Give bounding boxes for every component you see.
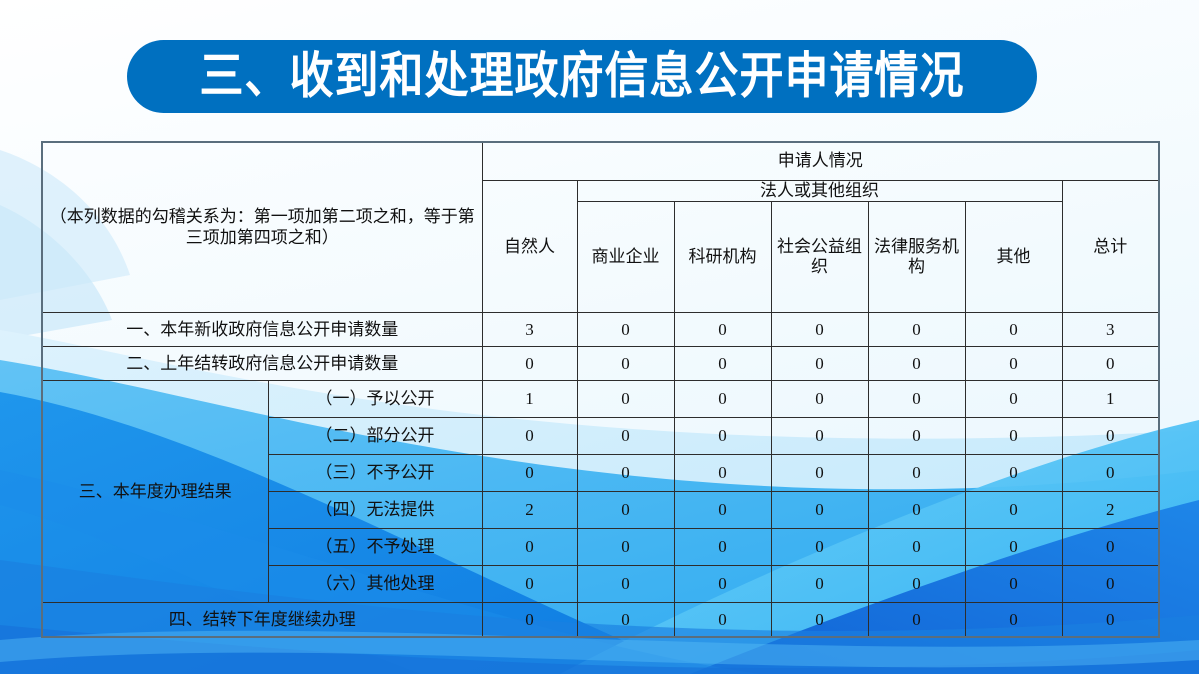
cell-value: 0 [965,529,1062,566]
cell-value: 0 [868,492,965,529]
cell-value: 0 [965,492,1062,529]
cell-value: 0 [674,313,771,347]
cell-value: 0 [674,455,771,492]
row-label-partially-disclosed: （二）部分公开 [268,418,482,455]
row-label-not-processed: （五）不予处理 [268,529,482,566]
column-header-commercial-enterprise: 商业企业 [577,202,674,313]
column-header-public-welfare-org: 社会公益组织 [771,202,868,313]
cell-value: 3 [482,313,577,347]
cell-value: 0 [1062,347,1159,381]
cell-value: 0 [771,455,868,492]
title-banner: 三、收到和处理政府信息公开申请情况 [127,40,1037,113]
cell-value: 0 [577,418,674,455]
column-header-other: 其他 [965,202,1062,313]
slide-canvas: 三、收到和处理政府信息公开申请情况 （本列数据的勾稽关系为：第一项加第二项之和，… [0,0,1199,674]
cell-value: 0 [1062,455,1159,492]
cell-value: 0 [577,492,674,529]
cell-value: 0 [1062,566,1159,603]
cell-value: 0 [965,381,1062,418]
table-head: （本列数据的勾稽关系为：第一项加第二项之和，等于第三项加第四项之和） 申请人情况… [42,142,1159,313]
cell-value: 0 [674,566,771,603]
cell-value: 0 [674,529,771,566]
cell-value: 0 [577,529,674,566]
cell-value: 0 [868,566,965,603]
cell-value: 0 [482,455,577,492]
cell-value: 0 [965,347,1062,381]
row-label-not-disclosed: （三）不予公开 [268,455,482,492]
column-header-legal-service-org: 法律服务机构 [868,202,965,313]
cell-value: 0 [771,418,868,455]
cell-value: 0 [771,492,868,529]
cell-value: 0 [577,381,674,418]
row-label-carried-over-applications: 二、上年结转政府信息公开申请数量 [42,347,482,381]
column-header-total: 总计 [1062,181,1159,313]
header-row-group: （本列数据的勾稽关系为：第一项加第二项之和，等于第三项加第四项之和） 申请人情况 [42,142,1159,181]
cell-value: 0 [771,529,868,566]
stub-header-cell: （本列数据的勾稽关系为：第一项加第二项之和，等于第三项加第四项之和） [42,142,482,313]
cell-value: 0 [868,381,965,418]
column-header-natural-person: 自然人 [482,181,577,313]
row-label-disclosed: （一）予以公开 [268,381,482,418]
cell-value: 0 [577,313,674,347]
table-row: 一、本年新收政府信息公开申请数量 3 0 0 0 0 0 3 [42,313,1159,347]
table-row: 二、上年结转政府信息公开申请数量 0 0 0 0 0 0 0 [42,347,1159,381]
page-title: 三、收到和处理政府信息公开申请情况 [200,52,965,101]
cell-value: 0 [482,566,577,603]
cell-value: 1 [482,381,577,418]
cell-value: 0 [868,603,965,638]
cell-value: 0 [771,313,868,347]
cell-value: 0 [965,418,1062,455]
cell-value: 0 [482,418,577,455]
cell-value: 2 [482,492,577,529]
cell-value: 0 [1062,418,1159,455]
cell-value: 0 [577,347,674,381]
table-row: 四、结转下年度继续办理 0 0 0 0 0 0 0 [42,603,1159,638]
government-info-disclosure-table: （本列数据的勾稽关系为：第一项加第二项之和，等于第三项加第四项之和） 申请人情况… [41,141,1160,638]
cell-value: 1 [1062,381,1159,418]
cell-value: 0 [771,381,868,418]
cell-value: 0 [868,529,965,566]
cell-value: 0 [674,492,771,529]
cell-value: 0 [771,347,868,381]
cell-value: 0 [868,347,965,381]
cell-value: 0 [577,566,674,603]
cell-value: 0 [1062,603,1159,638]
cell-value: 0 [674,418,771,455]
cell-value: 0 [577,455,674,492]
row-label-other-processing: （六）其他处理 [268,566,482,603]
row-label-processing-results-section: 三、本年度办理结果 [42,381,268,603]
cell-value: 3 [1062,313,1159,347]
cell-value: 0 [771,566,868,603]
cell-value: 0 [482,529,577,566]
row-label-unable-to-provide: （四）无法提供 [268,492,482,529]
row-label-carry-forward-next-year: 四、结转下年度继续办理 [42,603,482,638]
cell-value: 0 [868,313,965,347]
cell-value: 0 [674,381,771,418]
table-row: 三、本年度办理结果 （一）予以公开 1 0 0 0 0 0 1 [42,381,1159,418]
cell-value: 0 [674,347,771,381]
row-label-new-applications: 一、本年新收政府信息公开申请数量 [42,313,482,347]
cell-value: 0 [674,603,771,638]
column-header-research-institution: 科研机构 [674,202,771,313]
cell-value: 0 [868,455,965,492]
legal-person-group-header: 法人或其他组织 [577,181,1062,202]
cell-value: 0 [868,418,965,455]
cell-value: 0 [1062,529,1159,566]
cell-value: 0 [771,603,868,638]
cell-value: 0 [965,603,1062,638]
cell-value: 0 [965,566,1062,603]
cell-value: 0 [965,455,1062,492]
cell-value: 0 [965,313,1062,347]
applicant-group-header: 申请人情况 [482,142,1159,181]
cell-value: 0 [482,347,577,381]
cell-value: 2 [1062,492,1159,529]
cell-value: 0 [482,603,577,638]
table-body: 一、本年新收政府信息公开申请数量 3 0 0 0 0 0 3 二、上年结转政府信… [42,313,1159,638]
cell-value: 0 [577,603,674,638]
